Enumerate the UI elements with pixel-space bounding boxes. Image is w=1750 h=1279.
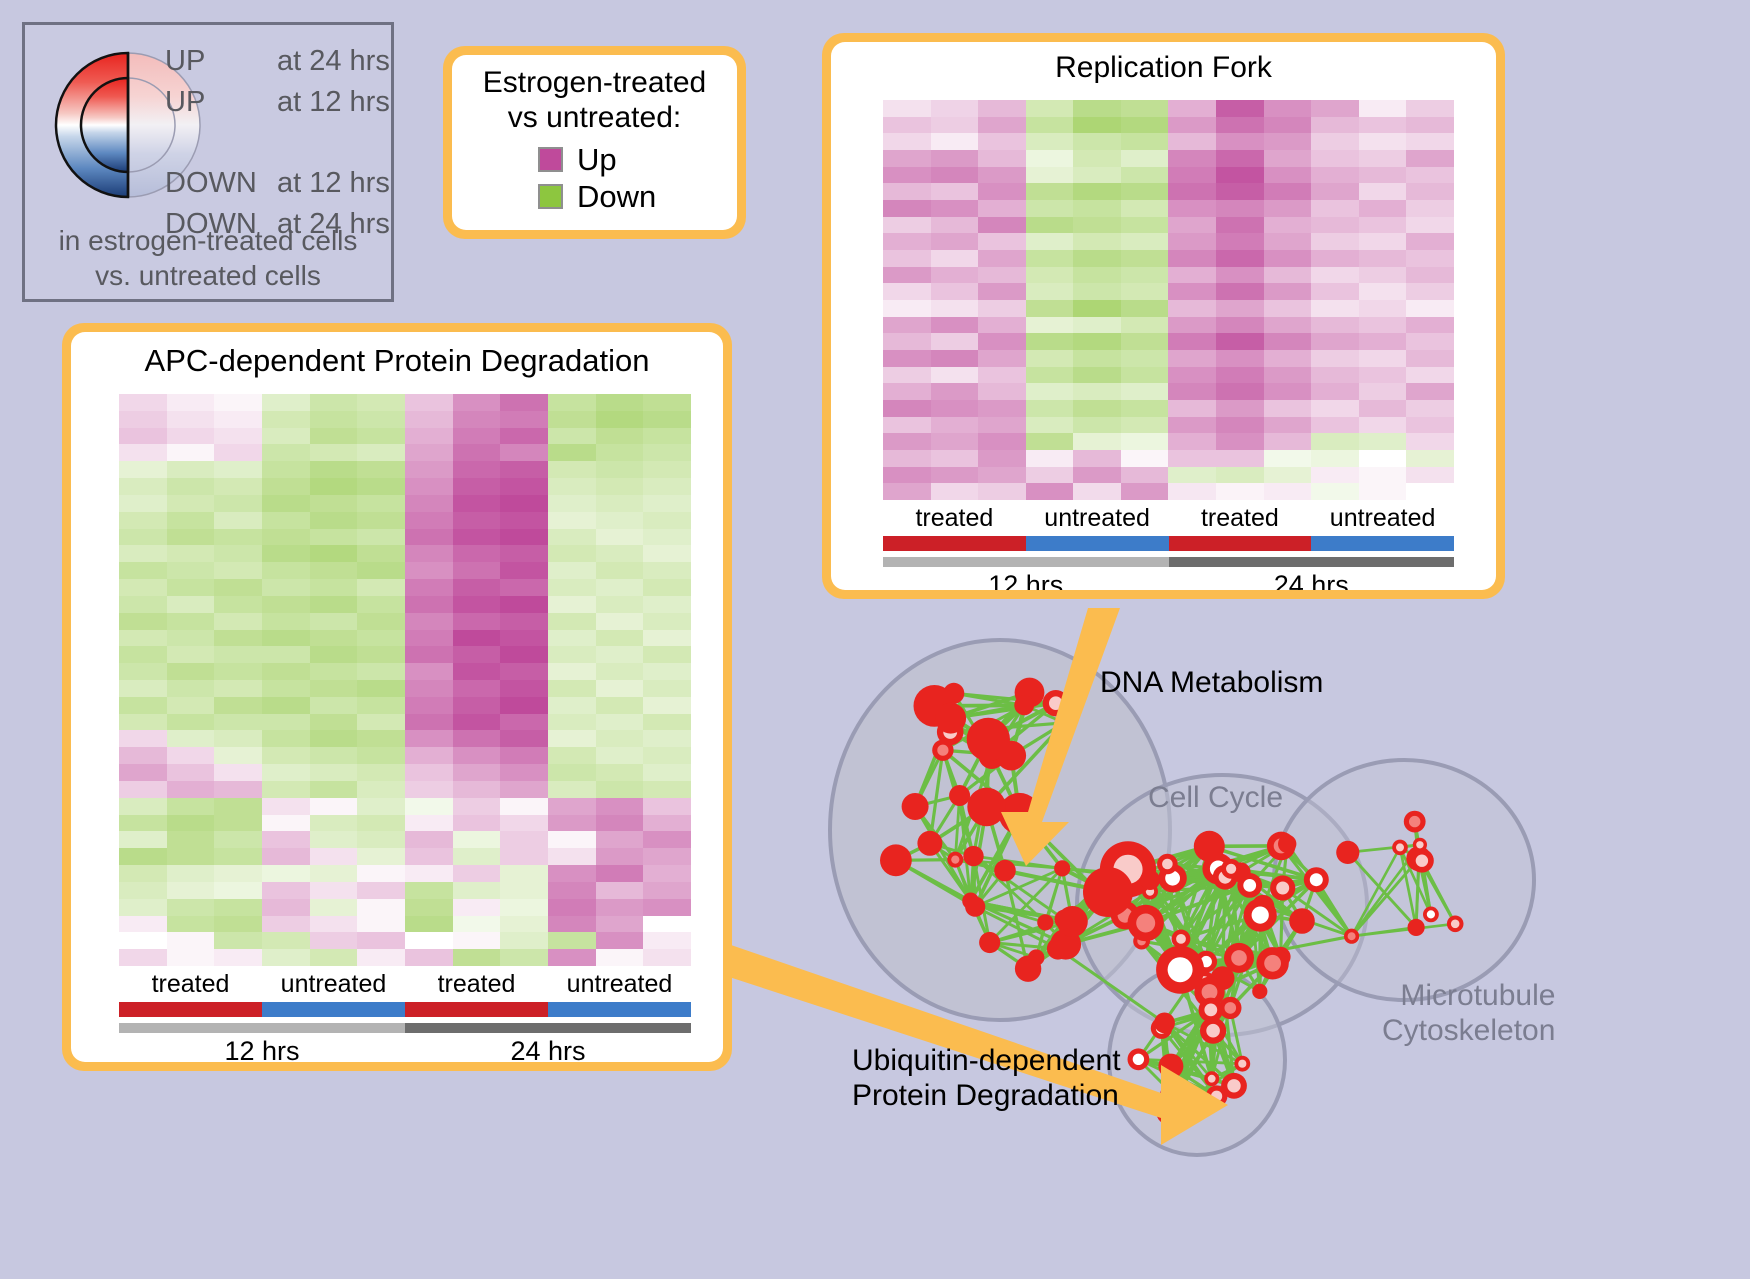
heatmap-cell xyxy=(357,781,405,798)
network-edge xyxy=(971,901,990,943)
heatmap-cell xyxy=(548,529,596,546)
network-edge xyxy=(1142,880,1150,941)
heatmap-cell xyxy=(1406,350,1454,367)
network-node xyxy=(1158,864,1186,892)
network-edge xyxy=(1173,878,1205,981)
heatmap-cell xyxy=(1406,283,1454,300)
heatmap-cell xyxy=(262,579,310,596)
network-edge xyxy=(1162,1028,1217,1096)
heatmap-cell xyxy=(1264,117,1312,134)
heatmap-cell xyxy=(548,865,596,882)
network-edge xyxy=(1206,885,1250,961)
network-node xyxy=(1088,876,1109,897)
heatmap-cell xyxy=(643,747,691,764)
heatmap-cell xyxy=(453,680,501,697)
heatmap-cell xyxy=(1026,233,1074,250)
network-node xyxy=(1160,1082,1186,1108)
network-edge xyxy=(1171,1010,1211,1066)
heatmap-cell xyxy=(119,478,167,495)
heatmap-cell xyxy=(214,562,262,579)
heatmap-cell xyxy=(214,882,262,899)
heatmap-cell xyxy=(310,394,358,411)
network-edge xyxy=(1045,922,1072,923)
heatmap-cell xyxy=(214,932,262,949)
network-edge xyxy=(1180,885,1250,969)
heatmap-cell xyxy=(119,949,167,966)
time-label: 12 hrs xyxy=(119,1036,405,1062)
heatmap-cell xyxy=(500,882,548,899)
network-edge xyxy=(1098,887,1108,892)
heatmap-cell xyxy=(1359,400,1407,417)
heatmap-cell xyxy=(643,730,691,747)
heatmap-cell xyxy=(1026,467,1074,484)
heatmap-cell xyxy=(167,882,215,899)
network-edge xyxy=(1169,1010,1211,1112)
heatmap-cell xyxy=(1073,117,1121,134)
network-edge xyxy=(1241,872,1283,888)
heatmap-cell xyxy=(1168,250,1216,267)
heatmap-cell xyxy=(214,663,262,680)
heatmap-cell xyxy=(119,916,167,933)
heatmap-cell xyxy=(1264,133,1312,150)
heatmap-cell xyxy=(310,831,358,848)
heatmap-cell xyxy=(1168,217,1216,234)
heatmap-cell xyxy=(931,300,979,317)
heatmap-cell xyxy=(167,798,215,815)
heatmap-cell xyxy=(643,495,691,512)
heatmap-cell xyxy=(1121,200,1169,217)
heatmap-cell xyxy=(931,417,979,434)
heatmap-cell xyxy=(405,714,453,731)
up-label: Up xyxy=(577,142,617,178)
condition-label: untreated xyxy=(1311,504,1454,533)
updown-legend-item-down: Down xyxy=(538,179,737,215)
network-edge xyxy=(1210,906,1264,992)
heatmap-cell xyxy=(1264,483,1312,500)
network-edge xyxy=(1150,880,1206,962)
untreated-bar xyxy=(1311,536,1454,551)
network-edge xyxy=(1146,923,1204,982)
network-edge xyxy=(987,739,989,807)
heatmap-cell xyxy=(1359,200,1407,217)
network-edge xyxy=(1181,939,1206,962)
heatmap-cell xyxy=(596,932,644,949)
heatmap-cell xyxy=(167,949,215,966)
network-edge xyxy=(950,723,1064,732)
heatmap-cell xyxy=(167,444,215,461)
heatmap-cell xyxy=(548,798,596,815)
network-node xyxy=(1408,919,1425,936)
network-edge xyxy=(1173,1086,1234,1095)
network-node xyxy=(1219,997,1241,1019)
heatmap-cell xyxy=(1311,450,1359,467)
heatmap-cell xyxy=(883,450,931,467)
heatmap-cell xyxy=(1359,233,1407,250)
heatmap-cell xyxy=(357,865,405,882)
heatmap-cell xyxy=(214,545,262,562)
heatmap-cell xyxy=(1311,217,1359,234)
heatmap-cell xyxy=(1359,250,1407,267)
network-edge xyxy=(1138,1059,1211,1078)
heatmap-cell xyxy=(1216,483,1264,500)
network-edge xyxy=(1212,1008,1231,1079)
network-edge xyxy=(1250,880,1317,886)
heatmap-cell xyxy=(1073,367,1121,384)
network-edge xyxy=(1066,923,1146,944)
heatmap-cell xyxy=(119,932,167,949)
heatmap-cell xyxy=(1216,300,1264,317)
network-edge xyxy=(1283,880,1317,888)
heatmap-cell xyxy=(548,714,596,731)
heatmap-cell xyxy=(931,467,979,484)
network-edge xyxy=(915,807,955,860)
network-node xyxy=(1083,867,1133,917)
heatmap-cell xyxy=(978,483,1026,500)
heatmap-cell xyxy=(1264,300,1312,317)
heatmap-cell xyxy=(548,882,596,899)
heatmap-cell xyxy=(596,545,644,562)
heatmap-cell xyxy=(883,433,931,450)
heatmap-cell xyxy=(596,646,644,663)
network-edge xyxy=(930,750,943,843)
network-edge xyxy=(1011,723,1064,756)
network-edge xyxy=(1239,880,1316,958)
heatmap-cell xyxy=(405,596,453,613)
heatmap-cell xyxy=(214,444,262,461)
network-edge xyxy=(1281,846,1316,880)
network-edge xyxy=(1180,869,1218,970)
network-edge xyxy=(1281,921,1302,957)
heatmap-cell xyxy=(405,781,453,798)
heatmap-cell xyxy=(1073,100,1121,117)
heatmap-cell xyxy=(405,848,453,865)
network-edge xyxy=(1142,941,1231,1008)
heatmap-cell xyxy=(357,747,405,764)
heatmap-cell xyxy=(119,495,167,512)
network-edge xyxy=(988,739,1011,755)
heatmap-cell xyxy=(596,882,644,899)
heatmap-cell xyxy=(643,428,691,445)
network-edge xyxy=(1098,864,1167,887)
heatmap-cell xyxy=(643,714,691,731)
heatmap-cell xyxy=(1359,483,1407,500)
heatmap-cell xyxy=(167,461,215,478)
heatmap-cell xyxy=(500,428,548,445)
network-edge xyxy=(1225,877,1283,888)
heatmap-cell xyxy=(357,495,405,512)
network-edge xyxy=(1011,693,1029,756)
network-edge xyxy=(1209,846,1231,869)
heatmap-cell xyxy=(1264,200,1312,217)
heatmap-cell xyxy=(167,394,215,411)
heatmap-cell xyxy=(1311,333,1359,350)
heatmap-cell xyxy=(1026,350,1074,367)
network-node xyxy=(1213,865,1238,890)
rf-time-bar xyxy=(883,557,1454,567)
network-edge xyxy=(1206,906,1263,961)
network-edge xyxy=(1171,1066,1212,1079)
colorbar-legend-caption: in estrogen-treated cellsvs. untreated c… xyxy=(25,223,391,293)
heatmap-cell xyxy=(1264,167,1312,184)
heatmap-cell xyxy=(1406,250,1454,267)
heatmap-cell xyxy=(1311,383,1359,400)
network-edge xyxy=(1213,1031,1242,1064)
heatmap-cell xyxy=(1359,467,1407,484)
network-edge xyxy=(1302,880,1316,921)
heatmap-cell xyxy=(643,411,691,428)
heatmap-cell xyxy=(405,545,453,562)
heatmap-cell xyxy=(310,512,358,529)
heatmap-cell xyxy=(1264,400,1312,417)
treated-bar xyxy=(1169,536,1312,551)
heatmap-cell xyxy=(453,899,501,916)
heatmap-cell xyxy=(931,167,979,184)
heatmap-cell xyxy=(405,394,453,411)
network-edge xyxy=(971,901,1066,944)
heatmap-cell xyxy=(1216,267,1264,284)
heatmap-cell xyxy=(1168,233,1216,250)
network-edge xyxy=(1165,1023,1217,1096)
legend-time: at 24 hrs xyxy=(277,47,390,76)
heatmap-cell xyxy=(1168,467,1216,484)
heatmap-cell xyxy=(596,899,644,916)
heatmap-cell xyxy=(548,747,596,764)
heatmap-cell xyxy=(548,562,596,579)
network-edge xyxy=(990,943,1028,969)
heatmap-cell xyxy=(500,697,548,714)
network-edge xyxy=(1150,864,1167,880)
heatmap-cell xyxy=(167,714,215,731)
heatmap-cell xyxy=(1026,333,1074,350)
network-edge xyxy=(951,718,992,756)
heatmap-cell xyxy=(310,730,358,747)
network-edge xyxy=(1223,877,1226,978)
network-node xyxy=(1231,862,1251,882)
heatmap-cell xyxy=(883,367,931,384)
heatmap-cell xyxy=(262,596,310,613)
network-node xyxy=(1410,849,1434,873)
network-edge xyxy=(1218,869,1250,886)
network-edge xyxy=(1167,846,1209,864)
network-edge xyxy=(1138,1059,1171,1092)
heatmap-cell xyxy=(1026,283,1074,300)
network-edge xyxy=(934,693,953,706)
heatmap-cell xyxy=(453,865,501,882)
network-edge xyxy=(1209,846,1263,906)
heatmap-cell xyxy=(453,529,501,546)
network-node xyxy=(1278,835,1296,853)
network-edge xyxy=(971,901,1046,923)
heatmap-cell xyxy=(1264,267,1312,284)
network-edge xyxy=(1180,958,1239,970)
network-edge xyxy=(1209,846,1316,879)
network-edge xyxy=(1225,877,1273,963)
heatmap-cell xyxy=(357,815,405,832)
network-edge xyxy=(1225,877,1250,885)
heatmap-cell xyxy=(1073,433,1121,450)
cluster-ellipse-microtubule xyxy=(1274,760,1534,1000)
heatmap-cell xyxy=(167,562,215,579)
heatmap-cell xyxy=(1121,483,1169,500)
heatmap-cell xyxy=(262,461,310,478)
heatmap-cell xyxy=(357,798,405,815)
network-edge xyxy=(1316,880,1351,937)
heatmap-cell xyxy=(167,932,215,949)
heatmap-cell xyxy=(405,495,453,512)
heatmap-cell xyxy=(1073,150,1121,167)
network-edge xyxy=(915,796,960,807)
heatmap-cell xyxy=(310,478,358,495)
heatmap-cell xyxy=(453,428,501,445)
heatmap-cell xyxy=(1359,167,1407,184)
network-edge xyxy=(1204,958,1239,982)
heatmap-cell xyxy=(1026,133,1074,150)
heatmap-cell xyxy=(548,596,596,613)
heatmap-cell xyxy=(596,444,644,461)
heatmap-cell xyxy=(548,848,596,865)
heatmap-cell xyxy=(548,630,596,647)
heatmap-cell xyxy=(1168,133,1216,150)
heatmap-cell xyxy=(978,400,1026,417)
network-edge xyxy=(1098,891,1125,915)
heatmap-cell xyxy=(453,461,501,478)
network-node xyxy=(1224,943,1254,973)
network-node xyxy=(937,719,964,746)
heatmap-cell xyxy=(931,350,979,367)
network-edge xyxy=(1206,962,1272,964)
heatmap-cell xyxy=(310,781,358,798)
heatmap-cell xyxy=(310,461,358,478)
network-edge xyxy=(1223,872,1241,978)
heatmap-cell xyxy=(214,461,262,478)
network-edge xyxy=(1162,1028,1174,1095)
heatmap-cell xyxy=(883,117,931,134)
heatmap-cell xyxy=(310,444,358,461)
network-edge xyxy=(1263,844,1287,906)
network-edge xyxy=(934,706,991,756)
heatmap-cell xyxy=(1311,167,1359,184)
apc-condition-labels: treated untreated treated untreated xyxy=(119,970,691,999)
heatmap-cell xyxy=(167,815,215,832)
heatmap-cell xyxy=(500,630,548,647)
heatmap-cell xyxy=(1121,100,1169,117)
network-edge xyxy=(1020,814,1098,892)
heatmap-cell xyxy=(1264,100,1312,117)
heatmap-cell xyxy=(643,613,691,630)
network-edge xyxy=(1167,864,1225,877)
heatmap-cell xyxy=(1359,133,1407,150)
heatmap-cell xyxy=(1406,167,1454,184)
network-edge xyxy=(1225,877,1263,906)
network-edge xyxy=(1250,885,1261,915)
heatmap-cell xyxy=(548,815,596,832)
network-node xyxy=(994,860,1016,882)
condition-label: treated xyxy=(405,970,548,999)
network-edge xyxy=(1036,922,1045,957)
heatmap-cell xyxy=(262,411,310,428)
heatmap-cell xyxy=(1264,250,1312,267)
heatmap-cell xyxy=(453,394,501,411)
network-edge xyxy=(1206,872,1241,961)
network-edge xyxy=(896,860,971,901)
heatmap-cell xyxy=(119,579,167,596)
heatmap-cell xyxy=(1026,300,1074,317)
network-edge xyxy=(1162,1008,1231,1028)
heatmap-cell xyxy=(310,916,358,933)
network-edge xyxy=(1066,892,1108,944)
heatmap-cell xyxy=(883,250,931,267)
heatmap-cell xyxy=(1026,100,1074,117)
network-node xyxy=(1128,905,1164,941)
heatmap-cell xyxy=(357,697,405,714)
heatmap-cell xyxy=(167,831,215,848)
heatmap-cell xyxy=(405,613,453,630)
heatmap-cell xyxy=(1073,133,1121,150)
heatmap-cell xyxy=(262,848,310,865)
heatmap-cell xyxy=(1168,300,1216,317)
heatmap-cell xyxy=(1073,200,1121,217)
heatmap-cell xyxy=(357,630,405,647)
network-edge xyxy=(975,871,1005,907)
heatmap-cell xyxy=(978,433,1026,450)
network-edge xyxy=(1066,915,1125,944)
heatmap-cell xyxy=(119,882,167,899)
heatmap-cell xyxy=(548,949,596,966)
heatmap-cell xyxy=(405,428,453,445)
network-node xyxy=(1157,854,1178,875)
network-edge xyxy=(954,693,1024,705)
heatmap-cell xyxy=(167,781,215,798)
network-edge xyxy=(1128,869,1180,969)
heatmap-cell xyxy=(310,495,358,512)
heatmap-cell xyxy=(643,865,691,882)
heatmap-cell xyxy=(310,848,358,865)
network-edge xyxy=(1180,877,1225,970)
network-edge xyxy=(1230,885,1249,1008)
heatmap-cell xyxy=(1073,467,1121,484)
heatmap-cell xyxy=(548,545,596,562)
heatmap-cell xyxy=(214,680,262,697)
network-edge xyxy=(1011,756,1019,814)
heatmap-cell xyxy=(1121,233,1169,250)
heatmap-cell xyxy=(883,150,931,167)
time-label: 24 hrs xyxy=(405,1036,691,1062)
network-node xyxy=(996,741,1026,771)
heatmap-cell xyxy=(453,545,501,562)
heatmap-cell xyxy=(357,461,405,478)
heatmap-cell xyxy=(931,483,979,500)
heatmap-cell xyxy=(405,747,453,764)
heatmap-cell xyxy=(405,646,453,663)
heatmap-cell xyxy=(1359,417,1407,434)
network-edge xyxy=(1206,962,1212,1079)
network-edge xyxy=(1181,846,1209,939)
heatmap-cell xyxy=(1073,450,1121,467)
heatmap-cell xyxy=(1121,383,1169,400)
heatmap-cell xyxy=(643,478,691,495)
heatmap-cell xyxy=(500,848,548,865)
network-edge xyxy=(1231,869,1239,958)
network-edge xyxy=(975,868,1062,906)
network-edge xyxy=(1281,888,1283,957)
network-node xyxy=(1057,906,1088,937)
heatmap-cell xyxy=(1216,283,1264,300)
network-edge xyxy=(1260,906,1263,991)
heatmap-cell xyxy=(596,461,644,478)
time-label: 12 hrs xyxy=(883,570,1169,590)
heatmap-cell xyxy=(1168,183,1216,200)
network-edge xyxy=(1283,888,1352,936)
